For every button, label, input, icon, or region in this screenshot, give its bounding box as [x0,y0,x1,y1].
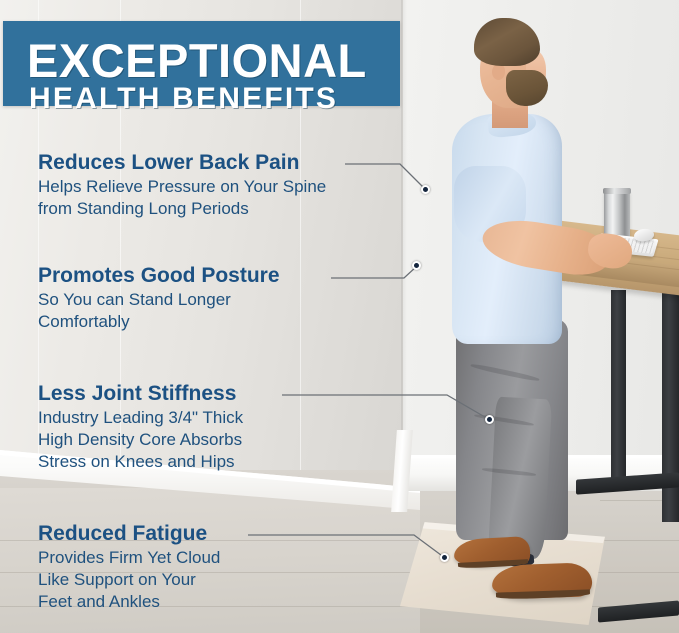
benefit-title-2: Promotes Good Posture [38,263,280,288]
callout-dot-4 [440,553,449,562]
beard [506,70,548,106]
person-standing [430,18,630,633]
benefit-line-4-2: Like Support on Your [38,569,220,590]
benefit-title-4: Reduced Fatigue [38,521,220,546]
ear [492,64,505,80]
benefit-block-1: Reduces Lower Back Pain Helps Relieve Pr… [38,150,326,219]
callout-dot-1 [421,185,430,194]
banner-title-line1: EXCEPTIONAL [27,37,367,84]
wall-corner-shadow [401,0,407,500]
benefit-line-3-2: High Density Core Absorbs [38,429,243,450]
benefit-line-1-1: Helps Relieve Pressure on Your Spine [38,176,326,197]
benefit-line-4-1: Provides Firm Yet Cloud [38,547,220,568]
header-banner: EXCEPTIONAL HEALTH BENEFITS [3,21,400,106]
benefit-line-1-2: from Standing Long Periods [38,198,326,219]
callout-dot-3 [485,415,494,424]
infographic-canvas: EXCEPTIONAL HEALTH BENEFITS Reduces Lowe… [0,0,679,633]
hair [474,18,540,66]
benefit-block-2: Promotes Good Posture So You can Stand L… [38,263,280,332]
benefit-line-4-3: Feet and Ankles [38,591,220,612]
benefit-block-3: Less Joint Stiffness Industry Leading 3/… [38,381,243,472]
callout-dot-2 [412,261,421,270]
benefit-title-1: Reduces Lower Back Pain [38,150,326,175]
benefit-line-3-1: Industry Leading 3/4" Thick [38,407,243,428]
benefit-line-2-1: So You can Stand Longer [38,289,280,310]
benefit-line-3-3: Stress on Knees and Hips [38,451,243,472]
benefit-line-2-2: Comfortably [38,311,280,332]
benefit-title-3: Less Joint Stiffness [38,381,243,406]
banner-title-line2: HEALTH BENEFITS [29,84,338,114]
benefit-block-4: Reduced Fatigue Provides Firm Yet Cloud … [38,521,220,612]
